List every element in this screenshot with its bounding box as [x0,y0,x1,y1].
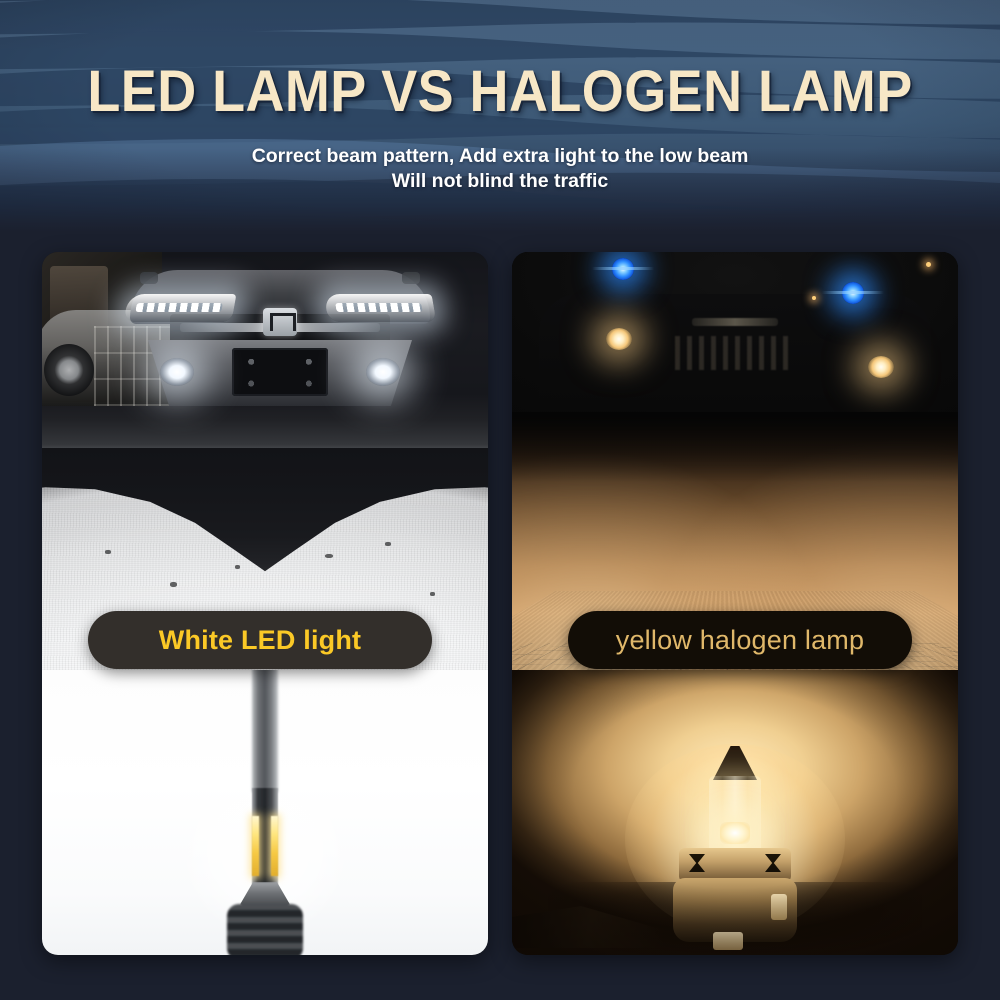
halogen-photo-vignette [512,670,958,955]
honda-logo-icon [263,308,297,336]
comparison-panels: White LED light yellow halogen lamp [0,0,1000,1000]
honda-civic-front [130,270,430,416]
led-night-road-photo [42,252,488,670]
license-plate-bracket [232,348,328,396]
side-mirror-left [140,272,158,284]
asphalt-speck [235,565,240,569]
led-chip-left [252,816,259,876]
led-bulb-neck [252,670,278,792]
side-mirror-right [402,272,420,284]
led-bulb-photo [42,670,488,955]
led-headlight-right [324,294,437,322]
halogen-label-badge: yellow halogen lamp [568,611,912,669]
led-comparison-panel [42,252,488,955]
blue-accent-light-left [612,258,634,280]
infographic-page: LED LAMP VS HALOGEN LAMP Correct beam pa… [0,0,1000,1000]
led-chip-right [271,816,278,876]
blue-accent-light-right [842,282,864,304]
led-label-badge: White LED light [88,611,432,669]
led-fog-light-left [160,358,194,386]
led-fog-light-right [366,358,400,386]
led-bulb-base [227,904,303,955]
asphalt-speck [385,542,391,546]
grille-bar [692,318,778,326]
halogen-night-road-photo [512,252,958,670]
pavement-shadow-fade [512,412,958,482]
background-street-light [926,262,931,267]
grille-lettering [675,336,795,370]
led-headlight-left [124,294,237,322]
halogen-label-text: yellow halogen lamp [616,625,864,656]
led-label-text: White LED light [159,625,361,656]
halogen-fog-light-left [606,328,632,350]
halogen-comparison-panel [512,252,958,955]
asphalt-speck [170,582,177,587]
led-strip-left [135,303,223,312]
asphalt-speck [430,592,435,596]
led-strip-right [335,303,423,312]
halogen-fog-light-right [868,356,894,378]
halogen-bulb-photo [512,670,958,955]
background-street-light [812,296,816,300]
background-car-wheel [44,344,94,396]
